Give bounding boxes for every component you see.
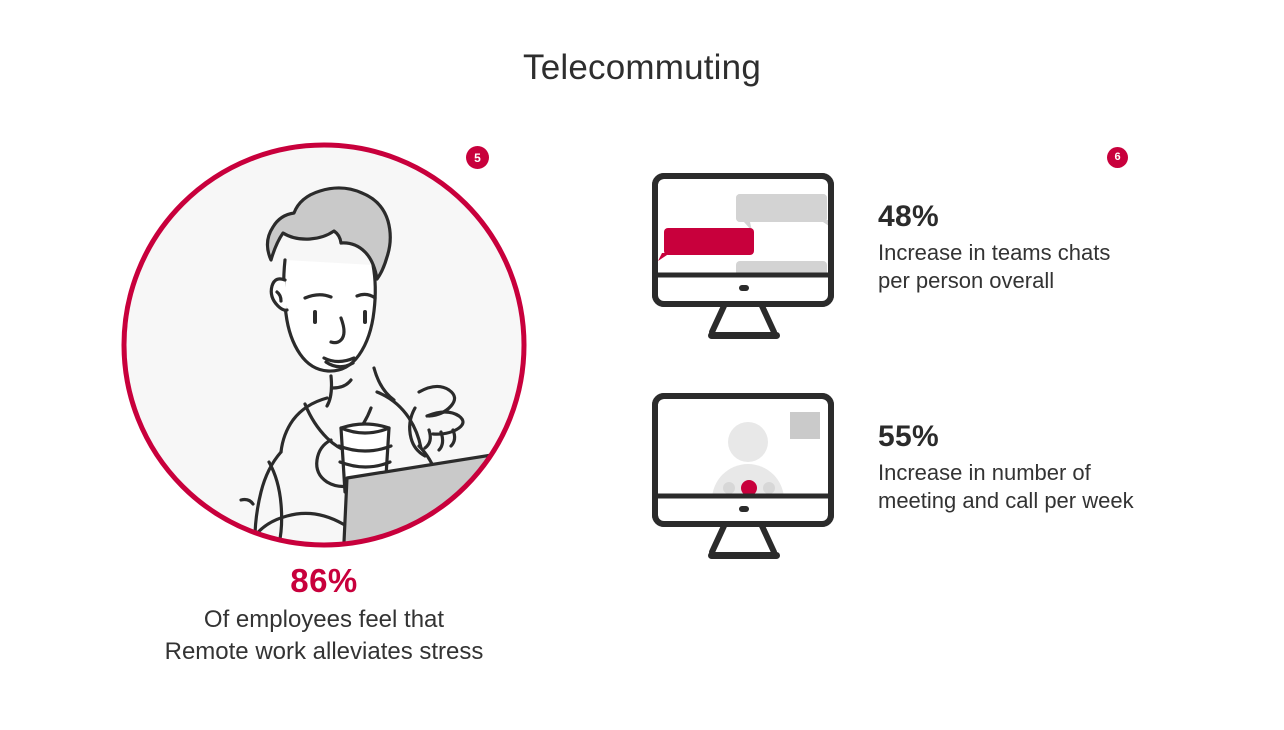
stat-label: Increase in number of meeting and call p… (878, 459, 1134, 514)
infographic-page: Telecommuting (0, 0, 1284, 730)
left-stat-caption: 86% Of employees feel that Remote work a… (84, 562, 564, 667)
stat-text-block: 55% Increase in number of meeting and ca… (878, 392, 1134, 514)
illustration-circle (119, 140, 529, 550)
stat-row-meetings-calls: 55% Increase in number of meeting and ca… (650, 392, 1134, 567)
monitor-chat-icon (650, 172, 846, 347)
badge-6: 6 (1107, 147, 1128, 168)
left-stat-value: 86% (84, 562, 564, 600)
stat-text-block: 48% Increase in teams chats per person o… (878, 172, 1110, 294)
page-title: Telecommuting (0, 48, 1284, 88)
stat-row-teams-chats: 48% Increase in teams chats per person o… (650, 172, 1110, 347)
left-stat-label: Of employees feel that Remote work allev… (84, 604, 564, 667)
badge-5: 5 (466, 146, 489, 169)
monitor-video-call-icon (650, 392, 846, 567)
stat-label: Increase in teams chats per person overa… (878, 239, 1110, 294)
stat-value: 48% (878, 200, 1110, 233)
stat-value: 55% (878, 420, 1134, 453)
